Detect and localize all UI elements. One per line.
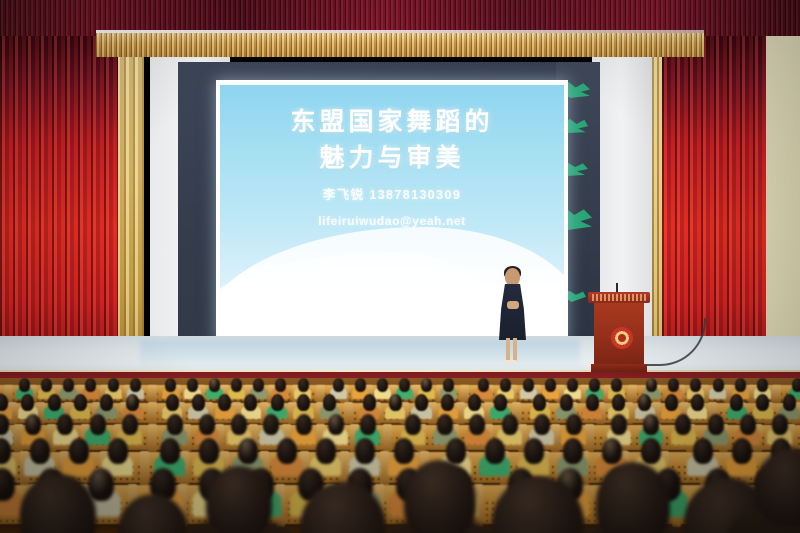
audience-member-head	[231, 414, 247, 435]
audience-member-head	[443, 378, 454, 392]
audience-member-head	[469, 414, 485, 435]
audience-member-head	[355, 438, 375, 464]
audience-member-head	[108, 378, 119, 392]
slide-title-line-2: 魅力与审美	[220, 141, 564, 177]
audience-member-head	[415, 394, 428, 411]
audience-member-head	[485, 438, 505, 464]
seat-divider	[585, 424, 594, 452]
audience-member-head	[646, 378, 657, 392]
audience-member-head	[612, 394, 625, 411]
audience-member-head	[494, 394, 507, 411]
audience-member-head	[297, 394, 310, 411]
audience-member-head	[21, 394, 34, 411]
audience-member-head	[126, 394, 139, 411]
slide-presenter-line: 李飞锐 13878130309	[220, 184, 564, 203]
audience-member-head	[421, 378, 432, 392]
presenter-leg	[513, 338, 517, 362]
audience-member-head	[713, 378, 724, 392]
audience-member-head	[500, 378, 511, 392]
audience-member-head	[611, 378, 622, 392]
auditorium-scene: 东盟国家舞蹈的 魅力与审美 李飞锐 13878130309 lifeiruiwu…	[0, 0, 800, 533]
audience-member-head	[638, 394, 651, 411]
audience-member-head	[363, 394, 376, 411]
audience-member-head	[478, 378, 489, 392]
lectern	[588, 292, 650, 374]
audience-member-head	[394, 438, 414, 464]
audience-member-head	[675, 414, 691, 435]
presenter-figure	[492, 268, 532, 368]
audience-member-head	[323, 394, 336, 411]
audience-member-head	[108, 438, 128, 464]
audience-member-head	[25, 414, 41, 435]
audience-member-head	[275, 378, 286, 392]
seat-divider	[148, 424, 157, 452]
audience-member-head	[756, 394, 769, 411]
audience-member-head	[231, 378, 242, 392]
audience-member-head	[783, 394, 796, 411]
audience-member-head	[209, 378, 220, 392]
stage-curtain-left	[0, 30, 118, 370]
audience-member-head	[602, 438, 622, 464]
audience-member-head	[122, 414, 138, 435]
audience-member-head	[502, 414, 518, 435]
foreground-audience-head	[404, 460, 476, 533]
audience-member-head	[69, 438, 89, 464]
seat-divider	[383, 424, 392, 452]
audience-member-head	[545, 378, 556, 392]
audience-member-head	[735, 378, 746, 392]
audience-member-head	[524, 438, 544, 464]
audience-member-head	[665, 394, 678, 411]
lectern-body	[594, 303, 644, 365]
audience-member-head	[271, 394, 284, 411]
audience-member-head	[740, 414, 756, 435]
seat-divider	[148, 402, 157, 424]
audience-member-head	[437, 414, 453, 435]
audience-member-head	[792, 378, 800, 392]
foreground-audience-head	[206, 466, 272, 533]
audience-member-head	[586, 394, 599, 411]
audience-member-head	[316, 438, 336, 464]
school-emblem-icon	[611, 327, 633, 349]
audience-member-head	[560, 394, 573, 411]
audience-member-head	[389, 394, 402, 411]
presenter-leg	[506, 338, 510, 362]
audience-member-head	[41, 378, 52, 392]
audience-member-head	[218, 394, 231, 411]
audience-member-head	[377, 378, 388, 392]
audience-member-head	[611, 414, 627, 435]
audience-member-head	[328, 414, 344, 435]
seat-divider	[148, 385, 157, 403]
audience-member-head	[100, 394, 113, 411]
audience-member-head	[296, 414, 312, 435]
seat-divider	[772, 385, 781, 403]
audience-member-head	[441, 394, 454, 411]
presenter-hands	[507, 301, 519, 309]
audience-member-head	[589, 378, 600, 392]
audience-member-head	[165, 378, 176, 392]
audience-member-head	[166, 394, 179, 411]
audience-member-head	[355, 378, 366, 392]
audience-member-head	[405, 414, 421, 435]
audience-member-head	[708, 414, 724, 435]
audience-member-head	[160, 438, 180, 464]
slide-title-line-1: 东盟国家舞蹈的	[220, 105, 564, 141]
audience-member-head	[167, 414, 183, 435]
audience-member-head	[533, 394, 546, 411]
audience-member-head	[732, 438, 752, 464]
audience-member-head	[523, 378, 534, 392]
lectern-base	[591, 364, 647, 372]
audience-member-head	[277, 438, 297, 464]
audience-member-head	[566, 414, 582, 435]
audience-member-head	[333, 378, 344, 392]
audience-member-head	[567, 378, 578, 392]
audience-member-head	[468, 394, 481, 411]
audience-member-head	[238, 438, 258, 464]
seat-divider	[628, 385, 637, 403]
audience-member-head	[446, 438, 466, 464]
audience-seating-area	[0, 378, 800, 533]
audience-member-head	[399, 378, 410, 392]
audience-member-head	[199, 414, 215, 435]
audience-member-head	[563, 438, 583, 464]
audience-member-head	[690, 378, 701, 392]
audience-member-head	[757, 378, 768, 392]
presenter-dress	[499, 284, 526, 340]
audience-member-head	[57, 414, 73, 435]
audience-member-head	[90, 414, 106, 435]
audience-member-head	[199, 438, 219, 464]
audience-member-head	[187, 378, 198, 392]
audience-member-head	[19, 378, 30, 392]
lectern-nameplate	[592, 294, 646, 301]
seat-divider	[344, 402, 353, 424]
audience-member-head	[85, 378, 96, 392]
audience-member-head	[534, 414, 550, 435]
audience-member-head	[772, 414, 788, 435]
audience-member-head	[244, 394, 257, 411]
gold-pelmet-band	[96, 33, 704, 57]
lectern-top	[588, 292, 650, 303]
audience-member-head	[130, 378, 141, 392]
audience-member-head	[641, 438, 661, 464]
audience-member-head	[30, 438, 50, 464]
audience-member-head	[192, 394, 205, 411]
audience-member-head	[730, 394, 743, 411]
presenter-head	[505, 268, 520, 286]
audience-member-head	[360, 414, 376, 435]
audience-member-head	[74, 394, 87, 411]
audience-member-head	[668, 378, 679, 392]
audience-member-head	[253, 378, 264, 392]
seat-divider	[140, 451, 149, 486]
audience-member-head	[691, 394, 704, 411]
slide-email: lifeiruiwudao@yeah.net	[220, 214, 564, 228]
audience-member-head	[693, 438, 713, 464]
audience-member-head	[298, 378, 309, 392]
audience-member-head	[48, 394, 61, 411]
audience-member-head	[63, 378, 74, 392]
presenter-shoes	[504, 360, 517, 364]
audience-member-head	[643, 414, 659, 435]
audience-member-head	[263, 414, 279, 435]
